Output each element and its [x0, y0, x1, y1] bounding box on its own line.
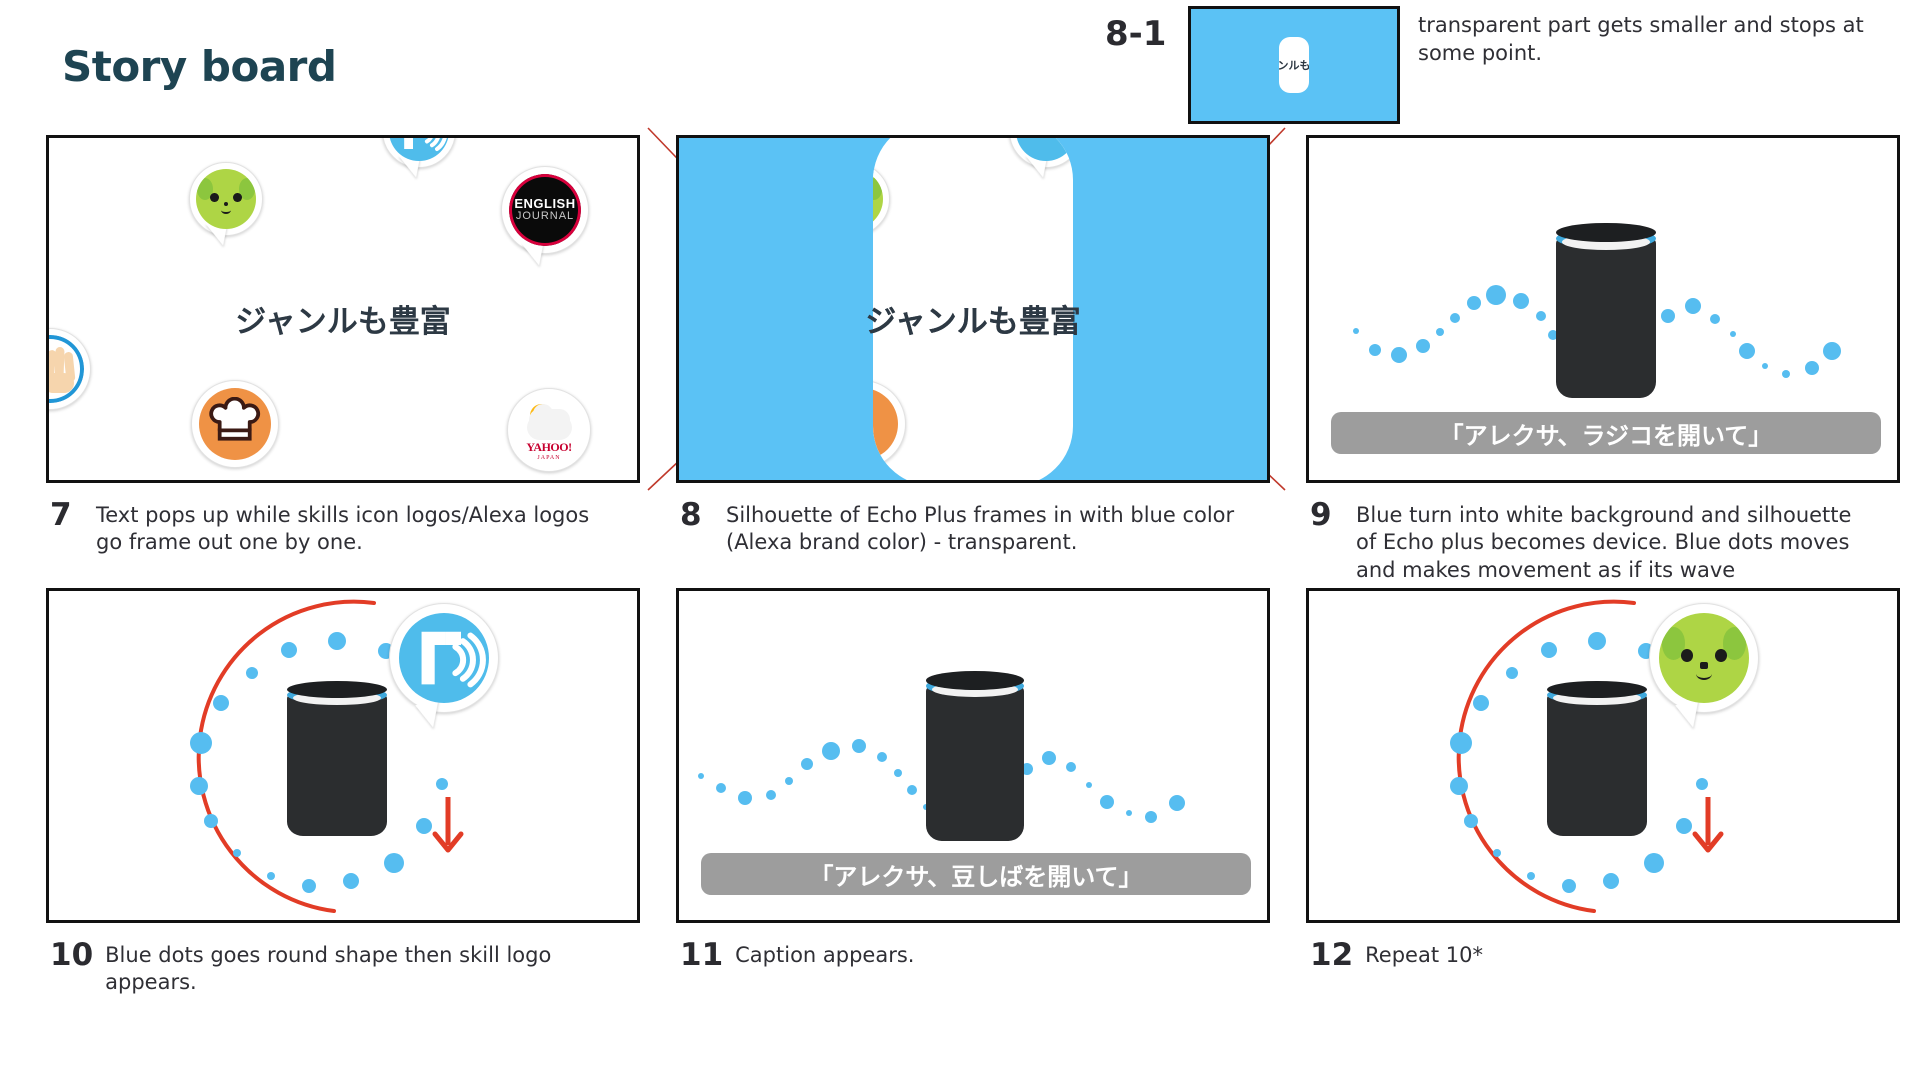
- panel-10-number: 10: [50, 940, 93, 971]
- ej-line1: ENGLISH: [514, 197, 575, 210]
- bubble-inner: ENGLISH JOURNAL: [509, 174, 581, 246]
- dog-eye-left: [210, 193, 218, 202]
- cloud-icon: [527, 415, 572, 440]
- radiko-skill-icon: [389, 603, 499, 713]
- panel-11-caption: 11 Caption appears.: [680, 940, 1240, 971]
- inset-slot-text: ンルも: [1279, 57, 1309, 73]
- chef-hat-skill-icon: [191, 380, 279, 468]
- mameshiba-face: [196, 169, 257, 230]
- inset-frame-8-1: ンルも: [1188, 6, 1400, 124]
- panel-8-caption: 8 Silhouette of Echo Plus frames in with…: [680, 500, 1240, 557]
- chef-hat-glyph: [199, 388, 271, 460]
- storyboard-page: Story board 8-1 ンルも transparent part get…: [0, 0, 1920, 1080]
- inset-label-8-1: 8-1: [1105, 14, 1166, 54]
- panel-11-number: 11: [680, 940, 723, 971]
- mameshiba-face: [1659, 613, 1749, 703]
- panel-9-caption: 9 Blue turn into white background and si…: [1310, 500, 1870, 584]
- chef-hat-skill-icon: [873, 380, 906, 468]
- panel-11-caption-text: Caption appears.: [735, 940, 914, 969]
- echo-top-cap: [926, 671, 1024, 690]
- mameshiba-face: [873, 169, 883, 230]
- chef-hat-icon: [208, 397, 261, 450]
- echo-body: [287, 693, 387, 836]
- panel-9-number: 9: [1310, 500, 1344, 531]
- dog-eye-right: [233, 193, 241, 202]
- english-journal-skill-icon: ENGLISH JOURNAL: [501, 166, 589, 254]
- bubble-inner: [199, 388, 271, 460]
- yahoo-japan-sub: JAPAN: [537, 455, 560, 461]
- panel-9-caption-pill: 「アレクサ、ラジコを開いて」: [1331, 412, 1881, 454]
- panel-12[interactable]: [1306, 588, 1900, 923]
- panel-11-pill-text: 「アレクサ、豆しばを開いて」: [809, 857, 1142, 892]
- panel-8-headline: ジャンルも豊富: [865, 296, 1080, 341]
- bubble-inner: [1659, 613, 1749, 703]
- panel-8-caption-text: Silhouette of Echo Plus frames in with b…: [726, 500, 1240, 557]
- radiko-glyph: [399, 613, 489, 703]
- radiko-r-icon: [399, 613, 489, 703]
- panel-11-caption-pill: 「アレクサ、豆しばを開いて」: [701, 853, 1251, 895]
- bubble-inner: [873, 169, 883, 230]
- yahoo-wordmark: YAHOO!: [526, 440, 571, 455]
- hand-palm: [46, 373, 74, 393]
- inset-transparent-slot: ンルも: [1279, 37, 1309, 93]
- panel-7-caption-text: Text pops up while skills icon logos/Ale…: [96, 500, 610, 557]
- panel-10-caption-text: Blue dots goes round shape then skill lo…: [105, 940, 610, 997]
- mameshiba-skill-icon: [189, 162, 263, 236]
- echo-body: [926, 685, 1024, 841]
- panel-7-number: 7: [50, 500, 84, 531]
- panel-12-caption-text: Repeat 10*: [1365, 940, 1483, 969]
- hands-skill-icon: [46, 328, 91, 410]
- ej-line2: JOURNAL: [516, 210, 574, 222]
- echo-plus-device: [926, 671, 1024, 841]
- echo-body: [1547, 693, 1647, 836]
- panel-10-caption: 10 Blue dots goes round shape then skill…: [50, 940, 610, 997]
- panel-12-number: 12: [1310, 940, 1353, 971]
- panel-9[interactable]: 「アレクサ、ラジコを開いて」: [1306, 135, 1900, 483]
- panel-11[interactable]: 「アレクサ、豆しばを開いて」: [676, 588, 1270, 923]
- dog-mouth: [1696, 667, 1712, 680]
- bubble-inner: [399, 613, 489, 703]
- radiko-skill-icon: [1009, 135, 1073, 168]
- panel-10[interactable]: [46, 588, 640, 923]
- echo-plus-device: [287, 681, 387, 836]
- panel-8-number: 8: [680, 500, 714, 531]
- bubble-inner: YAHOO! JAPAN: [515, 396, 584, 465]
- dog-eye-right: [1715, 649, 1728, 663]
- echo-body: [1556, 237, 1656, 398]
- dog-mouth: [221, 205, 232, 213]
- panel-8[interactable]: ジャンルも豊富 ジャンルも豊富: [676, 135, 1270, 483]
- yahoo-weather-glyph: YAHOO! JAPAN: [515, 396, 584, 465]
- english-journal-glyph: ENGLISH JOURNAL: [509, 174, 581, 246]
- dog-ear-right: [873, 178, 882, 200]
- dog-eye-left: [1681, 649, 1694, 663]
- inset-note-text: transparent part gets smaller and stops …: [1418, 12, 1888, 67]
- echo-plus-device: [1556, 223, 1656, 398]
- radiko-skill-icon: [382, 135, 456, 168]
- panel-9-caption-text: Blue turn into white background and silh…: [1356, 500, 1870, 584]
- panel-7-caption: 7 Text pops up while skills icon logos/A…: [50, 500, 610, 557]
- page-title: Story board: [62, 42, 336, 91]
- echo-plus-device: [1547, 681, 1647, 836]
- mameshiba-skill-icon: [873, 162, 890, 236]
- panel-9-pill-text: 「アレクサ、ラジコを開いて」: [1440, 416, 1773, 451]
- panel-12-caption: 12 Repeat 10*: [1310, 940, 1870, 971]
- panel-7-headline: ジャンルも豊富: [235, 296, 450, 341]
- yahoo-weather-skill-icon: YAHOO! JAPAN: [507, 388, 591, 472]
- mameshiba-skill-icon: [1649, 603, 1759, 713]
- panel-7[interactable]: ENGLISH JOURNAL: [46, 135, 640, 483]
- echo-top-cap: [287, 681, 387, 698]
- echo-top-cap: [1547, 681, 1647, 698]
- bubble-inner: [196, 169, 257, 230]
